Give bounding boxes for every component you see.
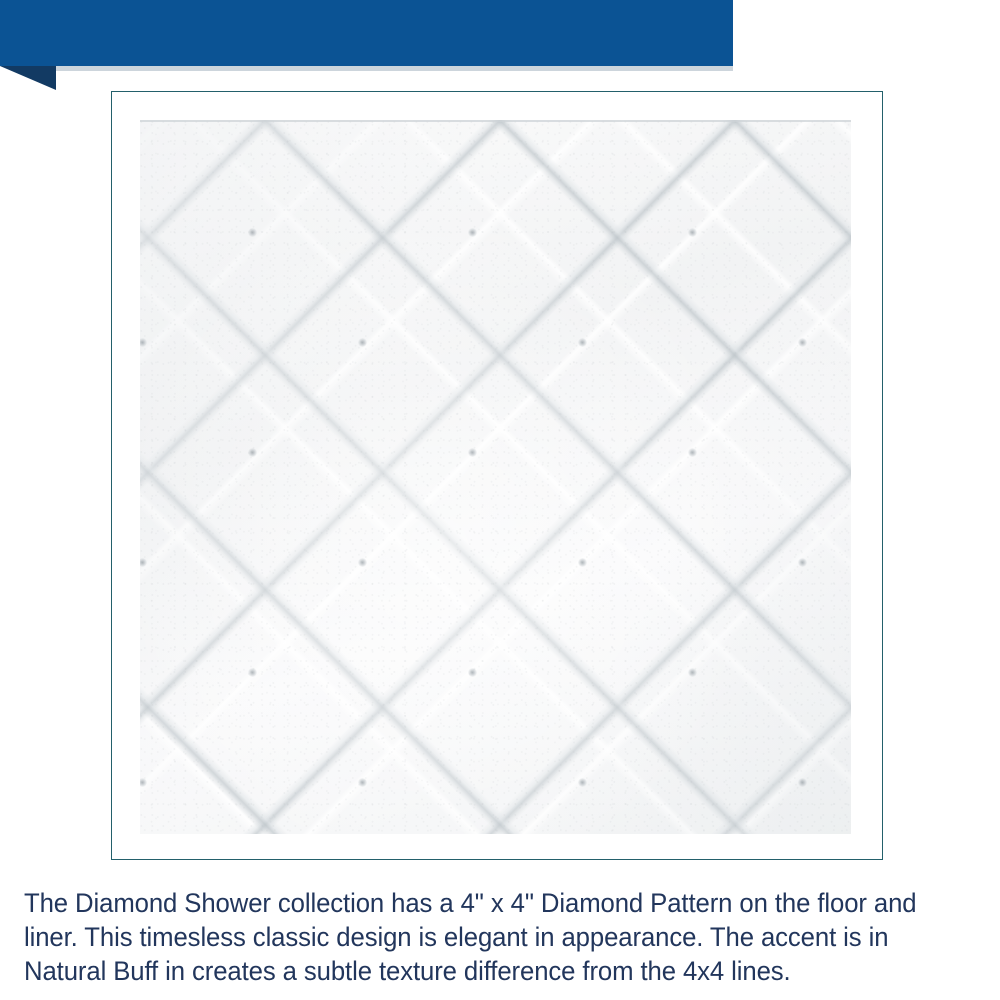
header-underline-strip [0,66,733,71]
banner-fold-icon [0,66,56,90]
header-banner [0,0,733,66]
product-slide: “DIAMOND” STONE TILE [0,0,1000,1000]
description-text: The Diamond Shower collection has a 4" x… [24,886,936,988]
tile-surface-pattern [140,120,851,834]
image-frame [111,91,883,860]
tile-photo [140,120,851,834]
